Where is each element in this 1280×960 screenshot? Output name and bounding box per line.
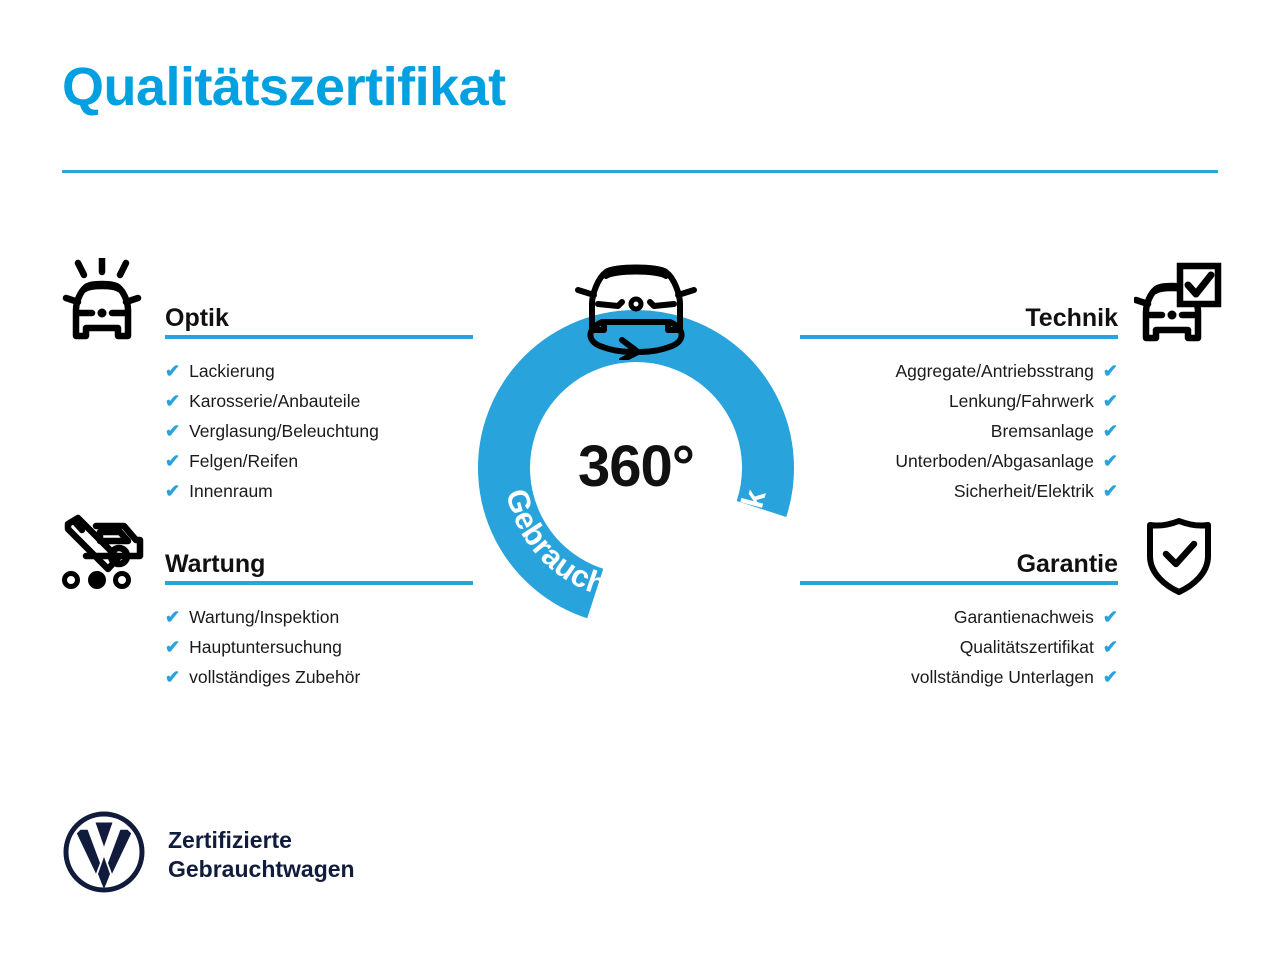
list-item-label: vollständige Unterlagen — [911, 662, 1094, 692]
list-item: Bremsanlage✔ — [800, 416, 1118, 446]
badge-center-label: 360° — [466, 438, 806, 496]
pen-car-service-icon — [56, 512, 148, 597]
section-divider — [800, 335, 1118, 339]
list-item-label: vollständiges Zubehör — [189, 662, 360, 692]
badge-360-gebrauchtwagen-check: Gebrauchtwagen-Check — [466, 252, 806, 627]
list-item: ✔Karosserie/Anbauteile — [165, 386, 473, 416]
list-item-label: Aggregate/Antriebsstrang — [895, 356, 1093, 386]
section-technik: Technik Aggregate/Antriebsstrang✔ Lenkun… — [800, 295, 1118, 506]
list-item-label: Hauptuntersuchung — [189, 632, 342, 662]
list-item-label: Lenkung/Fahrwerk — [949, 386, 1094, 416]
list-item: ✔vollständiges Zubehör — [165, 662, 473, 692]
section-wartung: Wartung ✔Wartung/Inspektion ✔Hauptunters… — [165, 541, 473, 692]
list-item-label: Qualitätszertifikat — [960, 632, 1094, 662]
section-optik: Optik ✔Lackierung ✔Karosserie/Anbauteile… — [165, 295, 473, 506]
list-item-label: Verglasung/Beleuchtung — [189, 416, 379, 446]
page-title: Qualitätszertifikat — [62, 60, 506, 114]
list-item: ✔Verglasung/Beleuchtung — [165, 416, 473, 446]
check-icon: ✔ — [1103, 632, 1118, 662]
check-icon: ✔ — [165, 356, 180, 386]
section-title: Optik — [165, 306, 229, 331]
list-item: ✔Innenraum — [165, 476, 473, 506]
check-icon: ✔ — [165, 386, 180, 416]
footer-line-2: Gebrauchtwagen — [168, 855, 355, 884]
section-title: Technik — [1025, 306, 1118, 331]
check-icon: ✔ — [165, 602, 180, 632]
list-item: ✔Wartung/Inspektion — [165, 602, 473, 632]
section-header-optik: Optik — [165, 295, 473, 339]
car-rotate-360-icon — [566, 252, 706, 365]
list-item: ✔Felgen/Reifen — [165, 446, 473, 476]
check-icon: ✔ — [1103, 416, 1118, 446]
list-item: Sicherheit/Elektrik✔ — [800, 476, 1118, 506]
check-icon: ✔ — [165, 662, 180, 692]
list-item: Garantienachweis✔ — [800, 602, 1118, 632]
list-item-label: Karosserie/Anbauteile — [189, 386, 360, 416]
check-icon: ✔ — [165, 632, 180, 662]
check-icon: ✔ — [1103, 446, 1118, 476]
section-divider — [165, 335, 473, 339]
list-item: Lenkung/Fahrwerk✔ — [800, 386, 1118, 416]
list-item-label: Sicherheit/Elektrik — [954, 476, 1094, 506]
check-icon: ✔ — [1103, 662, 1118, 692]
check-icon: ✔ — [1103, 386, 1118, 416]
section-header-wartung: Wartung — [165, 541, 473, 585]
shield-check-icon — [1142, 516, 1216, 601]
list-item-label: Wartung/Inspektion — [189, 602, 339, 632]
check-icon: ✔ — [1103, 356, 1118, 386]
section-header-garantie: Garantie — [800, 541, 1118, 585]
list-item: Aggregate/Antriebsstrang✔ — [800, 356, 1118, 386]
section-garantie: Garantie Garantienachweis✔ Qualitätszert… — [800, 541, 1118, 692]
list-item-label: Garantienachweis — [954, 602, 1094, 632]
footer-text: Zertifizierte Gebrauchtwagen — [168, 826, 355, 884]
checklist-optik: ✔Lackierung ✔Karosserie/Anbauteile ✔Verg… — [165, 356, 473, 506]
checklist-technik: Aggregate/Antriebsstrang✔ Lenkung/Fahrwe… — [800, 356, 1118, 506]
list-item: Unterboden/Abgasanlage✔ — [800, 446, 1118, 476]
list-item: Qualitätszertifikat✔ — [800, 632, 1118, 662]
car-shine-icon — [58, 258, 146, 355]
car-checkbox-icon — [1134, 262, 1222, 355]
list-item: ✔Lackierung — [165, 356, 473, 386]
list-item-label: Innenraum — [189, 476, 273, 506]
vw-logo — [62, 810, 146, 899]
certificate-page: Qualitätszertifikat — [0, 0, 1280, 960]
list-item-label: Unterboden/Abgasanlage — [895, 446, 1094, 476]
section-divider — [800, 581, 1118, 585]
list-item-label: Lackierung — [189, 356, 275, 386]
list-item-label: Felgen/Reifen — [189, 446, 298, 476]
section-title: Wartung — [165, 552, 265, 577]
checklist-wartung: ✔Wartung/Inspektion ✔Hauptuntersuchung ✔… — [165, 602, 473, 692]
section-divider — [165, 581, 473, 585]
section-title: Garantie — [1017, 552, 1118, 577]
footer-line-1: Zertifizierte — [168, 826, 355, 855]
check-icon: ✔ — [1103, 476, 1118, 506]
title-divider — [62, 170, 1218, 173]
footer-logo-block: Zertifizierte Gebrauchtwagen — [62, 810, 355, 899]
list-item: vollständige Unterlagen✔ — [800, 662, 1118, 692]
check-icon: ✔ — [165, 446, 180, 476]
check-icon: ✔ — [165, 476, 180, 506]
list-item-label: Bremsanlage — [991, 416, 1094, 446]
check-icon: ✔ — [1103, 602, 1118, 632]
section-header-technik: Technik — [800, 295, 1118, 339]
checklist-garantie: Garantienachweis✔ Qualitätszertifikat✔ v… — [800, 602, 1118, 692]
check-icon: ✔ — [165, 416, 180, 446]
list-item: ✔Hauptuntersuchung — [165, 632, 473, 662]
